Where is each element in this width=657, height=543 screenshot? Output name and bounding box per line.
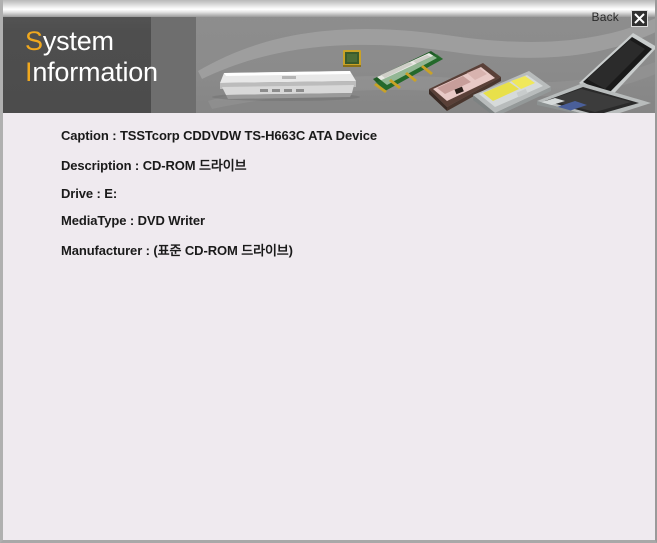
- info-row-drive: Drive : E:: [61, 186, 655, 201]
- info-label-caption: Caption: [61, 128, 109, 143]
- info-label-drive: Drive: [61, 186, 93, 201]
- info-label-description: Description: [61, 158, 131, 173]
- title-line-information: Information: [25, 59, 158, 86]
- info-sep-manufacturer: :: [142, 243, 153, 258]
- title-initial-s: S: [25, 26, 43, 56]
- info-label-manufacturer: Manufacturer: [61, 243, 142, 258]
- page-title: System Information: [25, 28, 158, 90]
- title-rest-nformation: nformation: [32, 57, 158, 87]
- info-sep-mediatype: :: [126, 213, 137, 228]
- info-value-manufacturer: (표준 CD-ROM 드라이브): [153, 243, 292, 258]
- info-row-description: Description : CD-ROM 드라이브: [61, 155, 655, 174]
- title-bar: [3, 0, 655, 17]
- info-value-description: CD-ROM 드라이브: [143, 158, 247, 173]
- close-icon[interactable]: [631, 10, 648, 27]
- laptop-image: [535, 27, 655, 113]
- info-value-mediatype: DVD Writer: [138, 213, 205, 228]
- scanner-image: [210, 61, 362, 101]
- info-value-caption: TSSTcorp CDDVDW TS-H663C ATA Device: [120, 128, 377, 143]
- info-sep-description: :: [131, 158, 142, 173]
- title-line-system: System: [25, 28, 158, 55]
- info-value-drive: E:: [104, 186, 117, 201]
- device-info-panel: Caption : TSSTcorp CDDVDW TS-H663C ATA D…: [3, 113, 655, 540]
- info-row-caption: Caption : TSSTcorp CDDVDW TS-H663C ATA D…: [61, 128, 655, 143]
- info-row-mediatype: MediaType : DVD Writer: [61, 213, 655, 228]
- info-sep-caption: :: [109, 128, 120, 143]
- title-rest-ystem: ystem: [43, 26, 114, 56]
- back-button[interactable]: Back: [592, 10, 619, 24]
- info-row-manufacturer: Manufacturer : (표준 CD-ROM 드라이브): [61, 240, 655, 259]
- system-information-window: Back System Information Caption : TSSTco…: [0, 0, 657, 543]
- info-label-mediatype: MediaType: [61, 213, 126, 228]
- info-sep-drive: :: [93, 186, 104, 201]
